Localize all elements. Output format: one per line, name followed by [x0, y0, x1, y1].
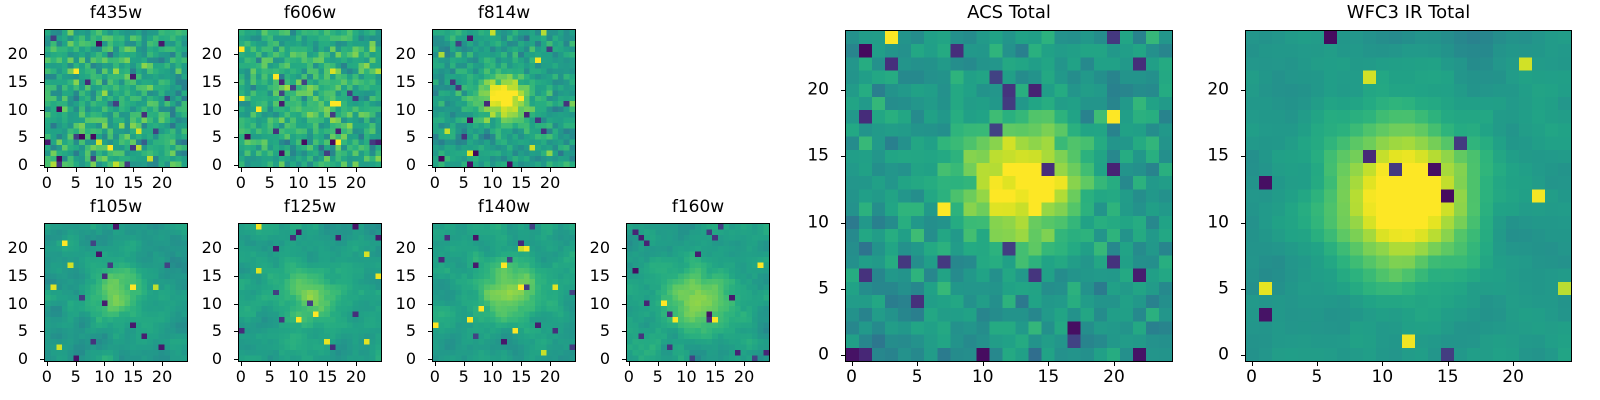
- panel-f435w: f435w0510152005101520: [4, 1, 188, 200]
- panel-f160w: f160w0510152005101520: [586, 195, 770, 394]
- heatmap-image-acs-total: [846, 31, 1172, 361]
- y-tick-f160w-5: [622, 331, 626, 332]
- y-tick-label-f160w-20: 20: [586, 240, 616, 256]
- x-tick-f125w-10: [298, 362, 299, 366]
- x-tick-f140w-15: [521, 362, 522, 366]
- x-tick-wfc3-ir-total-5: [1317, 362, 1318, 366]
- y-tick-wfc3-ir-total-5: [1241, 289, 1245, 290]
- x-tick-label-f606w-15: 15: [317, 175, 337, 191]
- panel-f606w: f606w0510152005101520: [198, 1, 382, 200]
- y-tick-label-f125w-10: 10: [198, 296, 228, 312]
- x-tick-label-f160w-20: 20: [734, 369, 754, 385]
- y-tick-acs-total-20: [841, 90, 845, 91]
- x-tick-label-wfc3-ir-total-20: 20: [1502, 369, 1524, 386]
- x-tick-f140w-0: [435, 362, 436, 366]
- y-tick-label-f160w-0: 0: [586, 351, 616, 367]
- y-tick-label-f435w-5: 5: [4, 129, 34, 145]
- x-tick-label-f140w-20: 20: [540, 369, 560, 385]
- panel-wfc3-ir-total: WFC3 IR Total0510152005101520: [1205, 2, 1572, 394]
- y-tick-wfc3-ir-total-20: [1241, 90, 1245, 91]
- y-tick-label-f125w-20: 20: [198, 240, 228, 256]
- heatmap-image-f160w: [627, 224, 769, 361]
- heatmap-image-f105w: [45, 224, 187, 361]
- x-tick-f105w-15: [133, 362, 134, 366]
- x-tick-acs-total-10: [983, 362, 984, 366]
- x-tick-label-f105w-5: 5: [71, 369, 81, 385]
- x-tick-label-f160w-10: 10: [676, 369, 696, 385]
- y-tick-f160w-0: [622, 359, 626, 360]
- x-tick-f814w-0: [435, 168, 436, 172]
- x-tick-acs-total-15: [1048, 362, 1049, 366]
- x-tick-label-f606w-0: 0: [236, 175, 246, 191]
- y-tick-f814w-15: [428, 82, 432, 83]
- x-tick-label-acs-total-5: 5: [912, 369, 923, 386]
- panel-title-f435w: f435w: [44, 5, 188, 22]
- x-tick-label-f105w-0: 0: [42, 369, 52, 385]
- x-tick-label-f160w-15: 15: [705, 369, 725, 385]
- x-tick-label-f140w-5: 5: [459, 369, 469, 385]
- y-tick-label-f606w-10: 10: [198, 102, 228, 118]
- x-tick-wfc3-ir-total-0: [1252, 362, 1253, 366]
- y-tick-acs-total-0: [841, 355, 845, 356]
- y-tick-f140w-15: [428, 276, 432, 277]
- x-tick-label-f105w-20: 20: [152, 369, 172, 385]
- x-tick-f435w-0: [47, 168, 48, 172]
- x-tick-label-f160w-0: 0: [624, 369, 634, 385]
- y-tick-label-f105w-20: 20: [4, 240, 34, 256]
- x-tick-label-f814w-20: 20: [540, 175, 560, 191]
- x-tick-f160w-15: [715, 362, 716, 366]
- x-tick-label-wfc3-ir-total-10: 10: [1372, 369, 1394, 386]
- x-tick-label-f140w-15: 15: [511, 369, 531, 385]
- x-tick-label-f606w-10: 10: [288, 175, 308, 191]
- panel-acs-total: ACS Total0510152005101520: [805, 2, 1173, 394]
- y-tick-f105w-20: [40, 248, 44, 249]
- y-tick-label-f814w-10: 10: [392, 102, 422, 118]
- x-tick-label-f125w-20: 20: [346, 369, 366, 385]
- y-tick-wfc3-ir-total-10: [1241, 223, 1245, 224]
- figure-canvas: f435w0510152005101520f606w05101520051015…: [0, 0, 1600, 400]
- y-tick-f140w-5: [428, 331, 432, 332]
- y-tick-f435w-0: [40, 165, 44, 166]
- heatmap-axes-acs-total: [845, 30, 1173, 362]
- x-tick-f814w-15: [521, 168, 522, 172]
- y-tick-f125w-5: [234, 331, 238, 332]
- y-tick-label-acs-total-10: 10: [805, 214, 835, 231]
- panel-title-f125w: f125w: [238, 199, 382, 216]
- y-tick-f435w-10: [40, 110, 44, 111]
- x-tick-label-f125w-10: 10: [288, 369, 308, 385]
- x-tick-wfc3-ir-total-10: [1382, 362, 1383, 366]
- y-tick-f606w-0: [234, 165, 238, 166]
- y-tick-label-f606w-20: 20: [198, 46, 228, 62]
- y-tick-label-f105w-10: 10: [4, 296, 34, 312]
- x-tick-label-f814w-0: 0: [430, 175, 440, 191]
- y-tick-f105w-5: [40, 331, 44, 332]
- panel-title-f105w: f105w: [44, 199, 188, 216]
- x-tick-label-acs-total-10: 10: [972, 369, 994, 386]
- panel-title-acs-total: ACS Total: [845, 4, 1173, 22]
- y-tick-label-f814w-5: 5: [392, 129, 422, 145]
- y-tick-f140w-20: [428, 248, 432, 249]
- y-tick-label-wfc3-ir-total-10: 10: [1205, 214, 1235, 231]
- heatmap-axes-f606w: [238, 29, 382, 168]
- x-tick-f606w-5: [270, 168, 271, 172]
- y-tick-f105w-0: [40, 359, 44, 360]
- x-tick-label-f125w-0: 0: [236, 369, 246, 385]
- x-tick-label-f606w-5: 5: [265, 175, 275, 191]
- x-tick-label-f125w-15: 15: [317, 369, 337, 385]
- x-tick-label-acs-total-0: 0: [846, 369, 857, 386]
- heatmap-axes-f814w: [432, 29, 576, 168]
- y-tick-label-f814w-20: 20: [392, 46, 422, 62]
- x-tick-f160w-5: [658, 362, 659, 366]
- y-tick-label-f814w-15: 15: [392, 74, 422, 90]
- heatmap-axes-f125w: [238, 223, 382, 362]
- x-tick-label-f814w-15: 15: [511, 175, 531, 191]
- x-tick-acs-total-20: [1114, 362, 1115, 366]
- y-tick-label-f125w-15: 15: [198, 268, 228, 284]
- x-tick-label-f435w-10: 10: [94, 175, 114, 191]
- x-tick-f105w-5: [76, 362, 77, 366]
- y-tick-acs-total-15: [841, 156, 845, 157]
- heatmap-axes-wfc3-ir-total: [1245, 30, 1572, 362]
- x-tick-f140w-10: [492, 362, 493, 366]
- x-tick-f140w-5: [464, 362, 465, 366]
- heatmap-axes-f160w: [626, 223, 770, 362]
- y-tick-label-f105w-15: 15: [4, 268, 34, 284]
- y-tick-f435w-20: [40, 54, 44, 55]
- y-tick-acs-total-5: [841, 289, 845, 290]
- x-tick-f125w-5: [270, 362, 271, 366]
- y-tick-label-f606w-0: 0: [198, 157, 228, 173]
- y-tick-label-f160w-10: 10: [586, 296, 616, 312]
- y-tick-label-acs-total-0: 0: [805, 347, 835, 364]
- x-tick-f814w-20: [550, 168, 551, 172]
- y-tick-label-f435w-0: 0: [4, 157, 34, 173]
- panel-title-f606w: f606w: [238, 5, 382, 22]
- x-tick-f606w-15: [327, 168, 328, 172]
- x-tick-f125w-15: [327, 362, 328, 366]
- y-tick-f160w-20: [622, 248, 626, 249]
- x-tick-f105w-0: [47, 362, 48, 366]
- y-tick-f125w-20: [234, 248, 238, 249]
- x-tick-f606w-10: [298, 168, 299, 172]
- heatmap-image-f435w: [45, 30, 187, 167]
- x-tick-label-wfc3-ir-total-5: 5: [1312, 369, 1323, 386]
- y-tick-label-f435w-20: 20: [4, 46, 34, 62]
- y-tick-wfc3-ir-total-15: [1241, 156, 1245, 157]
- y-tick-f105w-10: [40, 304, 44, 305]
- x-tick-f160w-20: [744, 362, 745, 366]
- x-tick-f140w-20: [550, 362, 551, 366]
- panel-title-f814w: f814w: [432, 5, 576, 22]
- x-tick-label-wfc3-ir-total-15: 15: [1437, 369, 1459, 386]
- y-tick-label-wfc3-ir-total-15: 15: [1205, 148, 1235, 165]
- y-tick-label-f125w-0: 0: [198, 351, 228, 367]
- y-tick-f160w-10: [622, 304, 626, 305]
- heatmap-image-f125w: [239, 224, 381, 361]
- x-tick-f160w-0: [629, 362, 630, 366]
- x-tick-acs-total-5: [917, 362, 918, 366]
- panel-title-f140w: f140w: [432, 199, 576, 216]
- x-tick-f606w-0: [241, 168, 242, 172]
- y-tick-f606w-20: [234, 54, 238, 55]
- x-tick-label-f435w-20: 20: [152, 175, 172, 191]
- y-tick-label-acs-total-15: 15: [805, 148, 835, 165]
- panel-f125w: f125w0510152005101520: [198, 195, 382, 394]
- x-tick-f160w-10: [686, 362, 687, 366]
- y-tick-label-wfc3-ir-total-5: 5: [1205, 280, 1235, 297]
- y-tick-f435w-15: [40, 82, 44, 83]
- x-tick-label-acs-total-15: 15: [1038, 369, 1060, 386]
- panel-f814w: f814w0510152005101520: [392, 1, 576, 200]
- y-tick-label-f435w-15: 15: [4, 74, 34, 90]
- x-tick-f814w-10: [492, 168, 493, 172]
- y-tick-label-f125w-5: 5: [198, 323, 228, 339]
- y-tick-f606w-15: [234, 82, 238, 83]
- y-tick-f814w-0: [428, 165, 432, 166]
- x-tick-f125w-20: [356, 362, 357, 366]
- y-tick-label-f105w-0: 0: [4, 351, 34, 367]
- y-tick-label-f140w-0: 0: [392, 351, 422, 367]
- x-tick-f814w-5: [464, 168, 465, 172]
- x-tick-label-f814w-5: 5: [459, 175, 469, 191]
- y-tick-f140w-10: [428, 304, 432, 305]
- x-tick-label-f125w-5: 5: [265, 369, 275, 385]
- x-tick-f435w-15: [133, 168, 134, 172]
- y-tick-label-f140w-20: 20: [392, 240, 422, 256]
- y-tick-f814w-10: [428, 110, 432, 111]
- panel-title-wfc3-ir-total: WFC3 IR Total: [1245, 4, 1572, 22]
- panel-f140w: f140w0510152005101520: [392, 195, 576, 394]
- y-tick-label-f105w-5: 5: [4, 323, 34, 339]
- y-tick-label-f140w-5: 5: [392, 323, 422, 339]
- y-tick-f814w-20: [428, 54, 432, 55]
- x-tick-label-f435w-5: 5: [71, 175, 81, 191]
- y-tick-f160w-15: [622, 276, 626, 277]
- y-tick-label-f606w-15: 15: [198, 74, 228, 90]
- y-tick-label-f160w-5: 5: [586, 323, 616, 339]
- x-tick-f435w-10: [104, 168, 105, 172]
- y-tick-label-f160w-15: 15: [586, 268, 616, 284]
- y-tick-f435w-5: [40, 137, 44, 138]
- x-tick-f435w-5: [76, 168, 77, 172]
- x-tick-f105w-10: [104, 362, 105, 366]
- x-tick-label-f105w-15: 15: [123, 369, 143, 385]
- x-tick-label-f606w-20: 20: [346, 175, 366, 191]
- x-tick-label-f140w-10: 10: [482, 369, 502, 385]
- heatmap-image-f606w: [239, 30, 381, 167]
- heatmap-image-wfc3-ir-total: [1246, 31, 1571, 361]
- x-tick-label-f814w-10: 10: [482, 175, 502, 191]
- heatmap-axes-f435w: [44, 29, 188, 168]
- heatmap-image-f140w: [433, 224, 575, 361]
- y-tick-f606w-5: [234, 137, 238, 138]
- y-tick-f125w-0: [234, 359, 238, 360]
- y-tick-label-f435w-10: 10: [4, 102, 34, 118]
- x-tick-wfc3-ir-total-20: [1513, 362, 1514, 366]
- y-tick-f814w-5: [428, 137, 432, 138]
- y-tick-label-f140w-15: 15: [392, 268, 422, 284]
- y-tick-f105w-15: [40, 276, 44, 277]
- heatmap-axes-f105w: [44, 223, 188, 362]
- y-tick-label-acs-total-20: 20: [805, 81, 835, 98]
- x-tick-label-f105w-10: 10: [94, 369, 114, 385]
- panel-title-f160w: f160w: [626, 199, 770, 216]
- x-tick-acs-total-0: [852, 362, 853, 366]
- y-tick-acs-total-10: [841, 223, 845, 224]
- x-tick-label-f435w-15: 15: [123, 175, 143, 191]
- x-tick-label-acs-total-20: 20: [1103, 369, 1125, 386]
- x-tick-f105w-20: [162, 362, 163, 366]
- x-tick-f435w-20: [162, 168, 163, 172]
- y-tick-f606w-10: [234, 110, 238, 111]
- y-tick-wfc3-ir-total-0: [1241, 355, 1245, 356]
- y-tick-label-f814w-0: 0: [392, 157, 422, 173]
- x-tick-label-f140w-0: 0: [430, 369, 440, 385]
- y-tick-f125w-15: [234, 276, 238, 277]
- y-tick-label-f606w-5: 5: [198, 129, 228, 145]
- x-tick-label-wfc3-ir-total-0: 0: [1246, 369, 1257, 386]
- heatmap-image-f814w: [433, 30, 575, 167]
- panel-f105w: f105w0510152005101520: [4, 195, 188, 394]
- y-tick-label-wfc3-ir-total-20: 20: [1205, 81, 1235, 98]
- y-tick-label-f140w-10: 10: [392, 296, 422, 312]
- y-tick-label-wfc3-ir-total-0: 0: [1205, 347, 1235, 364]
- heatmap-axes-f140w: [432, 223, 576, 362]
- y-tick-f140w-0: [428, 359, 432, 360]
- x-tick-wfc3-ir-total-15: [1448, 362, 1449, 366]
- x-tick-f125w-0: [241, 362, 242, 366]
- x-tick-label-f435w-0: 0: [42, 175, 52, 191]
- y-tick-label-acs-total-5: 5: [805, 280, 835, 297]
- x-tick-label-f160w-5: 5: [653, 369, 663, 385]
- x-tick-f606w-20: [356, 168, 357, 172]
- y-tick-f125w-10: [234, 304, 238, 305]
